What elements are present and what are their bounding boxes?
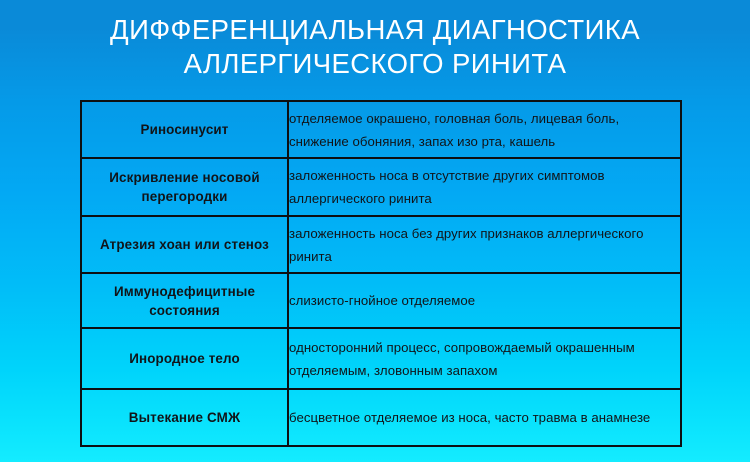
description-cell: отделяемое окрашено, головная боль, лице… — [288, 101, 681, 158]
description-cell: слизисто-гнойное отделяемое — [288, 273, 681, 328]
differential-diagnosis-table: Риносинусит отделяемое окрашено, головна… — [80, 100, 682, 447]
condition-cell: Иммунодефицитные состояния — [81, 273, 288, 328]
slide-canvas: ДИФФЕРЕНЦИАЛЬНАЯ ДИАГНОСТИКА АЛЛЕРГИЧЕСК… — [0, 0, 750, 462]
condition-cell: Инородное тело — [81, 328, 288, 389]
condition-cell: Искривление носовой перегородки — [81, 158, 288, 216]
page-title: ДИФФЕРЕНЦИАЛЬНАЯ ДИАГНОСТИКА АЛЛЕРГИЧЕСК… — [0, 13, 750, 81]
description-cell: односторонний процесс, сопровождаемый ок… — [288, 328, 681, 389]
table-row: Риносинусит отделяемое окрашено, головна… — [81, 101, 681, 158]
condition-cell: Вытекание СМЖ — [81, 389, 288, 446]
table-row: Атрезия хоан или стеноз заложенность нос… — [81, 216, 681, 273]
table-row: Искривление носовой перегородки заложенн… — [81, 158, 681, 216]
table-row: Иммунодефицитные состояния слизисто-гной… — [81, 273, 681, 328]
condition-cell: Риносинусит — [81, 101, 288, 158]
description-cell: заложенность носа в отсутствие других си… — [288, 158, 681, 216]
table-body: Риносинусит отделяемое окрашено, головна… — [81, 101, 681, 446]
table-row: Вытекание СМЖ бесцветное отделяемое из н… — [81, 389, 681, 446]
table-row: Инородное тело односторонний процесс, со… — [81, 328, 681, 389]
condition-cell: Атрезия хоан или стеноз — [81, 216, 288, 273]
page-title-line-1: ДИФФЕРЕНЦИАЛЬНАЯ ДИАГНОСТИКА — [0, 13, 750, 47]
description-cell: заложенность носа без других признаков а… — [288, 216, 681, 273]
page-title-line-2: АЛЛЕРГИЧЕСКОГО РИНИТА — [0, 47, 750, 81]
description-cell: бесцветное отделяемое из носа, часто тра… — [288, 389, 681, 446]
